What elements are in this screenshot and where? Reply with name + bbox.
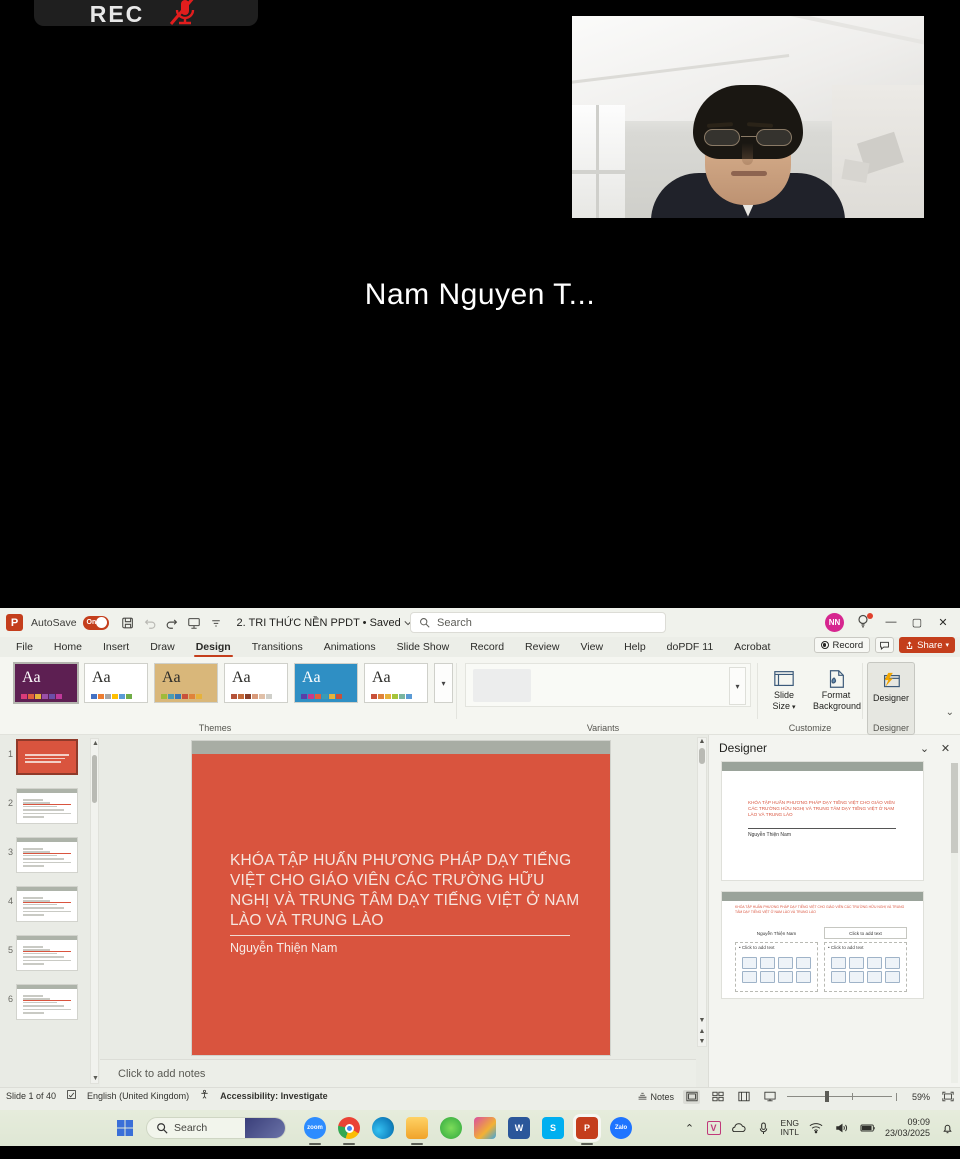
tab-home[interactable]: Home [52,640,84,654]
designer-pane: Designer ⌄ ✕ KHÓA TẬP HUẤN PHƯƠNG PHÁP D… [708,735,960,1087]
themes-gallery: Aa Aa Aa Aa Aa Aa ▾ [14,663,456,703]
theme-aa-label: Aa [302,669,321,687]
clock-time: 09:09 [907,1117,930,1127]
clock-date: 23/03/2025 [885,1128,930,1138]
designer-suggestion-list: KHÓA TẬP HUẤN PHƯƠNG PHÁP DẠY TIẾNG VIỆT… [709,761,960,1087]
slide-subtitle[interactable]: Nguyễn Thiện Nam [230,941,337,955]
taskbar-app-zoom[interactable]: zoom [304,1117,326,1139]
start-presentation-icon[interactable] [183,612,205,634]
themes-group-label: Themes [0,723,430,733]
autosave-label: AutoSave [31,617,77,629]
taskbar-app-dopdf[interactable] [474,1117,496,1139]
slide-title[interactable]: KHÓA TẬP HUẤN PHƯƠNG PHÁP DẠY TIẾNG VIỆT… [230,851,580,931]
ime-line-2: INTL [781,1127,799,1137]
spell-check-icon[interactable] [66,1087,77,1105]
theme-color-swatches [371,694,412,699]
format-background-label-2: Background [813,701,861,711]
taskbar-app-unikey[interactable] [440,1117,462,1139]
work-area: 123456 ▲ ▼ KHÓA TẬP HUẤN PHƯƠNG PHÁP DẠY… [0,735,960,1087]
maximize-button[interactable]: ▢ [904,611,930,633]
wifi-icon[interactable] [807,1119,825,1137]
share-icon [905,641,914,650]
notes-button[interactable]: Notes [637,1091,674,1102]
recording-indicator[interactable]: REC [34,0,258,26]
scrollbar-thumb[interactable] [951,763,958,853]
designer-icon [869,665,913,693]
scroll-up-icon[interactable]: ▲ [92,740,97,747]
taskbar-app-file-explorer[interactable] [406,1117,428,1139]
customize-group: Slide Size ▾ Format Background Customize [758,657,862,735]
designer-pane-header: Designer ⌄ ✕ [709,735,960,761]
minimize-button[interactable]: — [878,611,904,633]
theme-aa-label: Aa [232,669,251,687]
start-button[interactable] [114,1117,136,1139]
taskbar-app-microsoft-word[interactable]: W [508,1117,530,1139]
editor-vertical-scrollbar[interactable]: ▲ ▼ ▲ ▼ [697,737,707,1047]
share-button[interactable]: Share ▾ [899,637,955,653]
tab-slide-show[interactable]: Slide Show [395,640,452,654]
tab-record[interactable]: Record [468,640,506,654]
scroll-down-icon[interactable]: ▼ [92,1075,97,1082]
unikey-icon[interactable]: V [707,1121,721,1135]
variants-group-label: Variants [457,723,749,733]
ribbon-tabs: File Home Insert Draw Design Transitions… [0,637,960,657]
windows-taskbar: Search zoomWSPZalo ⌃ V ENG INTL [0,1110,960,1146]
scroll-up-icon[interactable]: ▲ [698,738,706,745]
theme-aa-label: Aa [162,669,181,687]
status-bar-right: Notes [637,1088,956,1105]
theme-color-swatches [301,694,342,699]
slide-thumbnail-item[interactable]: 1 [0,735,100,775]
slide-thumbnail-preview[interactable] [16,984,78,1020]
suggestion-col2-body: • Click to add text [824,942,907,992]
record-circle-icon [821,641,829,649]
placeholder-icon-grid [831,957,901,983]
variants-gallery[interactable]: ▾ [465,663,751,707]
tab-view[interactable]: View [578,640,605,654]
taskbar-apps: zoomWSPZalo [304,1117,632,1139]
theme-color-swatches [161,694,202,699]
search-placeholder: Search [437,617,472,629]
slide-number: 6 [4,984,16,1004]
designer-group-label: Designer [863,723,919,733]
placeholder-icon-grid [742,957,812,983]
accessibility-status[interactable]: Accessibility: Investigate [220,1091,328,1101]
variant-swatch[interactable] [473,669,531,702]
slide-thumbnail-preview[interactable] [16,837,78,873]
theme-swatch-theme-retrospect[interactable]: Aa [364,663,428,703]
slide-thumbnail-pane[interactable]: 123456 ▲ ▼ [0,735,100,1087]
designer-pane-title: Designer [715,741,912,755]
designer-scrollbar[interactable] [951,763,958,1083]
status-bar: Slide 1 of 40 English (United Kingdom) A… [0,1087,960,1104]
close-button[interactable]: ✕ [930,611,956,633]
theme-aa-label: Aa [372,669,391,687]
battery-icon[interactable] [859,1119,877,1137]
tab-acrobat[interactable]: Acrobat [732,640,772,654]
slide-counter[interactable]: Slide 1 of 40 [6,1091,56,1101]
slide-thumbnail-item[interactable]: 2 [0,784,100,824]
slide-thumbnail-preview[interactable] [16,788,78,824]
slide-thumbnail-item[interactable]: 3 [0,833,100,873]
taskbar-app-microsoft-edge[interactable] [372,1117,394,1139]
participant-video [572,16,924,218]
zoom-track[interactable] [787,1096,892,1097]
taskbar-app-google-chrome[interactable] [338,1117,360,1139]
suggestion-subtitle: Nguyễn Thiện Nam [748,832,791,838]
zoom-slider[interactable] [787,1093,897,1101]
customize-group-label: Customize [758,723,862,733]
zoom-value[interactable]: 59% [906,1092,930,1102]
slide-number: 5 [4,935,16,955]
slide-top-band [192,741,610,754]
share-chevron-down-icon: ▾ [945,641,949,649]
participant-name: Nam Nguyen T... [0,278,960,312]
themes-group: Aa Aa Aa Aa Aa Aa ▾ Themes [0,657,456,735]
screen-bottom-letterbox [0,1146,960,1159]
more-variants-button[interactable]: ▾ [729,667,746,705]
video-tile[interactable] [572,16,924,218]
variants-group: ▾ Variants [457,657,757,735]
slide-size-label-2: Size [773,701,791,711]
more-themes-button[interactable]: ▾ [434,663,453,703]
clock[interactable]: 09:09 23/03/2025 [885,1117,930,1139]
theme-swatch-theme-berlin-purple[interactable]: Aa [14,663,78,703]
ribbon: Aa Aa Aa Aa Aa Aa ▾ Themes ▾ Variants [0,657,960,735]
tab-insert[interactable]: Insert [101,640,131,654]
taskbar-app-microsoft-powerpoint[interactable]: P [576,1117,598,1139]
scrollbar-thumb[interactable] [699,748,705,764]
search-icon [419,617,430,628]
mic-muted-icon [168,2,202,24]
search-icon [156,1122,168,1134]
designer-label: Designer [873,693,909,703]
volume-icon[interactable] [833,1119,851,1137]
title-bar: P AutoSave On [0,608,960,637]
search-input[interactable]: Search [410,612,666,633]
tab-animations[interactable]: Animations [322,640,378,654]
suggestion-col2-header: Click to add text [824,927,907,939]
view-slideshow-button[interactable] [761,1090,778,1104]
system-tray: ⌃ V ENG INTL 09:09 [681,1110,956,1146]
theme-color-swatches [231,694,272,699]
recording-label: REC [90,4,145,24]
format-background-label-1: Format [822,690,851,700]
theme-swatch-theme-facet-blue[interactable]: Aa [294,663,358,703]
record-button[interactable]: Record [814,637,871,653]
undo-icon[interactable] [139,612,161,634]
scrollbar-thumb[interactable] [92,755,97,803]
zoom-midpoint [852,1093,853,1100]
theme-aa-label: Aa [92,669,111,687]
slide-size-label-1: Slide [774,690,794,700]
design-suggestion[interactable]: KHÓA TẬP HUẤN PHƯƠNG PHÁP DẠY TIẾNG VIỆT… [721,891,924,999]
save-icon[interactable] [117,612,139,634]
taskbar-search[interactable]: Search [146,1117,286,1139]
taskbar-app-skype[interactable]: S [542,1117,564,1139]
designer-collapse-icon[interactable]: ⌄ [916,740,933,757]
previous-slide-icon[interactable]: ▲ [698,1028,706,1035]
suggestion-title: KHÓA TẬP HUẤN PHƯƠNG PHÁP DẠY TIẾNG VIỆT… [735,905,910,914]
onedrive-icon[interactable] [729,1119,747,1137]
scroll-down-icon[interactable]: ▼ [698,1017,706,1024]
slide-editor[interactable]: KHÓA TẬP HUẤN PHƯƠNG PHÁP DẠY TIẾNG VIỆT… [100,735,708,1087]
slide-size-icon [761,662,807,690]
suggestion-col1-header: Nguyễn Thiện Nam [735,927,818,939]
tell-me-bulb-icon[interactable] [856,613,874,631]
record-button-label: Record [833,640,864,651]
theme-color-swatches [91,694,132,699]
document-title[interactable]: 2. TRI THỨC NỀN PPDT • Saved [237,617,401,629]
accessibility-icon[interactable] [199,1087,210,1105]
format-background-icon [813,662,859,690]
ime-line-1: ENG [781,1118,799,1128]
slide-number: 4 [4,886,16,906]
designer-close-icon[interactable]: ✕ [937,740,954,757]
avatar[interactable]: NN [825,613,844,632]
tab-dopdf[interactable]: doPDF 11 [665,640,716,654]
suggestion-band [722,762,923,771]
theme-swatch-theme-ion-boardroom[interactable]: Aa [224,663,288,703]
current-slide[interactable]: KHÓA TẬP HUẤN PHƯƠNG PHÁP DẠY TIẾNG VIỆT… [192,741,610,1055]
design-suggestion[interactable]: KHÓA TẬP HUẤN PHƯƠNG PHÁP DẠY TIẾNG VIỆT… [721,761,924,881]
customize-quick-access-icon[interactable] [205,612,227,634]
designer-group: Designer Designer [863,657,919,735]
powerpoint-window: P AutoSave On [0,608,960,1110]
notes-pane[interactable]: Click to add notes [100,1059,696,1087]
slide-divider [230,935,570,936]
theme-color-swatches [21,694,62,699]
tab-draw[interactable]: Draw [148,640,177,654]
view-normal-button[interactable] [683,1090,700,1104]
slide-thumbnail-preview[interactable] [16,935,78,971]
screen: REC [0,0,960,1159]
tab-transitions[interactable]: Transitions [250,640,305,654]
slide-number: 1 [4,739,16,759]
slide-pane-scrollbar[interactable]: ▲ ▼ [90,738,99,1084]
taskbar-search-placeholder: Search [174,1122,207,1134]
placeholder-text: • Click to add text [828,945,864,950]
tab-review[interactable]: Review [523,640,561,654]
slide-thumbnail-item[interactable]: 5 [0,931,100,971]
notes-placeholder: Click to add notes [118,1068,205,1080]
tab-design[interactable]: Design [194,640,233,654]
zoom-meeting-area: REC [0,0,960,608]
share-button-label: Share [917,640,942,651]
notes-button-label: Notes [650,1092,674,1102]
suggestion-band [722,892,923,901]
slide-thumbnail-preview[interactable] [16,739,78,775]
ime-indicator[interactable]: ENG INTL [781,1119,799,1138]
bing-wallpaper-icon [245,1118,285,1138]
slide-thumbnail-item[interactable]: 4 [0,882,100,922]
placeholder-text: • Click to add text [739,945,775,950]
slide-number: 3 [4,837,16,857]
theme-aa-label: Aa [22,669,41,687]
comments-button[interactable] [875,637,894,653]
tray-overflow-icon[interactable]: ⌃ [681,1119,699,1137]
zoom-handle[interactable] [825,1091,829,1102]
view-slide-sorter-button[interactable] [709,1090,726,1104]
theme-swatch-theme-wood-type[interactable]: Aa [154,663,218,703]
windows-logo-icon [116,1119,134,1137]
autosave-toggle[interactable]: On [83,616,109,630]
collapse-ribbon-button[interactable]: ⌄ [946,707,954,718]
microphone-icon[interactable] [755,1119,773,1137]
view-reading-button[interactable] [735,1090,752,1104]
suggestion-col1-body: • Click to add text [735,942,818,992]
autosave-state: On [87,619,97,626]
powerpoint-logo-icon: P [6,614,23,631]
notification-icon[interactable] [938,1119,956,1137]
redo-icon[interactable] [161,612,183,634]
comment-icon [879,640,890,651]
tab-file[interactable]: File [14,640,35,654]
taskbar-app-zalo[interactable]: Zalo [610,1117,632,1139]
slide-thumbnail-preview[interactable] [16,886,78,922]
tab-help[interactable]: Help [622,640,648,654]
language-indicator[interactable]: English (United Kingdom) [87,1091,189,1101]
slide-number: 2 [4,788,16,808]
fit-to-window-button[interactable] [939,1090,956,1104]
slide-thumbnail-item[interactable]: 6 [0,980,100,1020]
next-slide-icon[interactable]: ▼ [698,1038,706,1045]
suggestion-title: KHÓA TẬP HUẤN PHƯƠNG PHÁP DẠY TIẾNG VIỆT… [748,800,903,819]
suggestion-divider [748,828,896,829]
theme-swatch-theme-office-white[interactable]: Aa [84,663,148,703]
